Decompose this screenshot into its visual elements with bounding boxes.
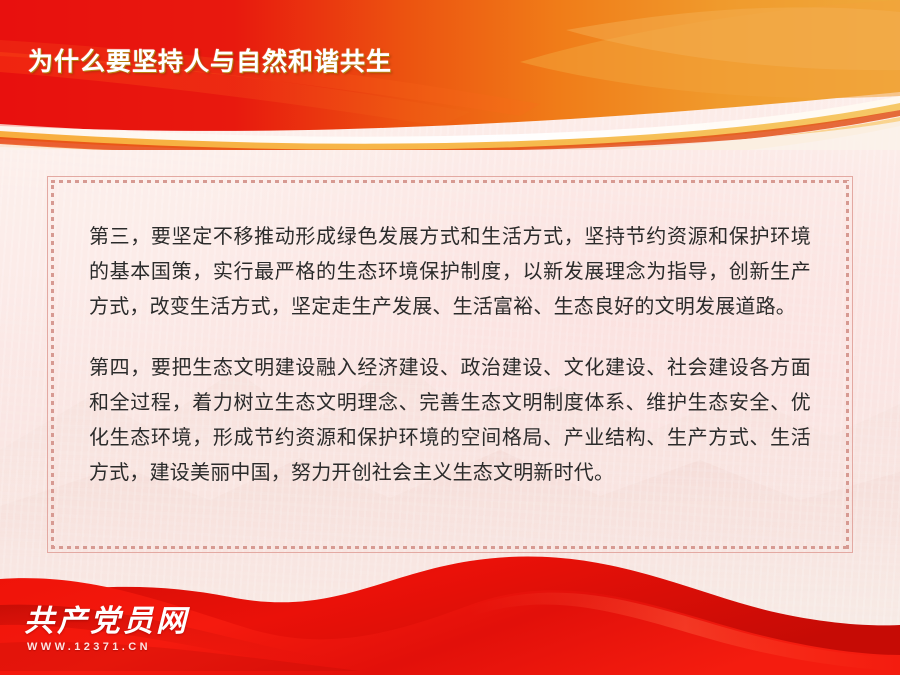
content-panel: 第三，要坚定不移推动形成绿色发展方式和生活方式，坚持节约资源和保护环境的基本国策… (47, 176, 853, 553)
paragraph-fourth: 第四，要把生态文明建设融入经济建设、政治建设、文化建设、社会建设各方面和全过程，… (89, 351, 811, 491)
site-logo-url: WWW.12371.CN (27, 642, 189, 653)
paragraph-third: 第三，要坚定不移推动形成绿色发展方式和生活方式，坚持节约资源和保护环境的基本国策… (89, 220, 811, 325)
footer-ribbon: 共产党员网 WWW.12371.CN (0, 545, 900, 675)
content-panel-decorative-border: 第三，要坚定不移推动形成绿色发展方式和生活方式，坚持节约资源和保护环境的基本国策… (51, 180, 849, 549)
site-logo-text: 共产党员网 (24, 607, 189, 637)
page-title: 为什么要坚持人与自然和谐共生 (28, 42, 392, 78)
slide-root: 为什么要坚持人与自然和谐共生 第三，要坚定不移推动形成绿色发展方式和生活方式，坚… (0, 0, 900, 675)
content-text-area: 第三，要坚定不移推动形成绿色发展方式和生活方式，坚持节约资源和保护环境的基本国策… (89, 220, 811, 491)
site-logo: 共产党员网 WWW.12371.CN (24, 607, 189, 653)
header-banner: 为什么要坚持人与自然和谐共生 (0, 0, 900, 150)
